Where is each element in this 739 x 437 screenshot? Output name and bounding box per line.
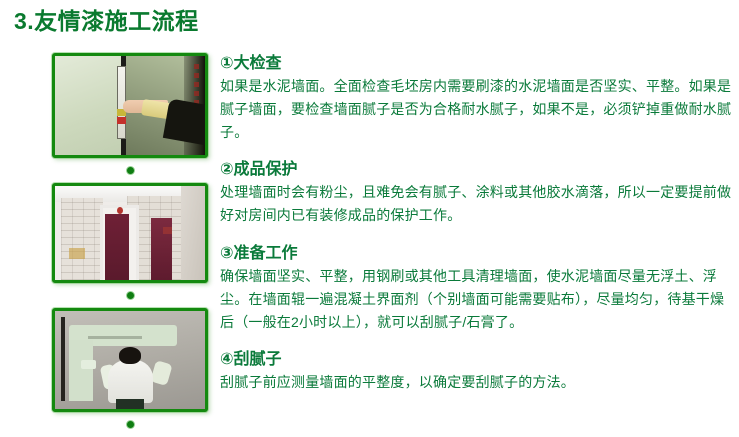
photo1-arm: [163, 98, 208, 145]
photo-column: [52, 53, 208, 437]
step-4-body: 刮腻子前应测量墙面的平整度，以确定要刮腻子的方法。: [220, 371, 732, 394]
dot-icon: [127, 292, 134, 299]
photo1-level-bubble-red: [117, 117, 126, 124]
photo-worker-applying-putty-image: [55, 311, 205, 409]
page-root: 3.友情漆施工流程: [0, 0, 739, 433]
dot-icon: [127, 167, 134, 174]
step-section-3: ③准备工作 确保墙面坚实、平整，用钢刷或其他工具清理墙面，使水泥墙面尽量无浮土、…: [220, 244, 732, 334]
steps-text-column: ①大检查 如果是水泥墙面。全面检查毛坯房内需要刷漆的水泥墙面是否坚实、平整。如果…: [220, 54, 732, 407]
photo3-coated-patch-small: [81, 360, 96, 369]
photo2-poster-spot-2: [163, 227, 172, 234]
photo-product-protection-image: [55, 186, 205, 280]
photo-wall-inspection-image: [55, 56, 205, 155]
step-1-body: 如果是水泥墙面。全面检查毛坯房内需要刷漆的水泥墙面是否坚实、平整。如果是腻子墙面…: [220, 75, 732, 144]
photo2-side-wall: [181, 186, 205, 280]
page-title: 3.友情漆施工流程: [14, 8, 199, 36]
photo3-coated-patch-left: [69, 340, 93, 401]
step-2-body: 处理墙面时会有粉尘，且难免会有腻子、涂料或其他胶水滴落，所以一定要提前做好对房间…: [220, 181, 732, 227]
photo2-poster-spot: [69, 248, 86, 259]
step-section-4: ④刮腻子 刮腻子前应测量墙面的平整度，以确定要刮腻子的方法。: [220, 350, 732, 394]
step-section-2: ②成品保护 处理墙面时会有粉尘，且难免会有腻子、涂料或其他胶水滴落，所以一定要提…: [220, 160, 732, 227]
photo-frame-3: [52, 308, 208, 412]
photo3-wall-line: [88, 336, 142, 339]
step-section-1: ①大检查 如果是水泥墙面。全面检查毛坯房内需要刷漆的水泥墙面是否坚实、平整。如果…: [220, 54, 732, 144]
connector-dot-2: [52, 283, 208, 308]
connector-dot-1: [52, 158, 208, 183]
photo3-worker-body: [108, 360, 153, 403]
photo3-worker-head: [119, 347, 142, 364]
connector-dot-3: [52, 412, 208, 437]
dot-icon: [127, 421, 134, 428]
step-3-heading: ③准备工作: [220, 244, 732, 264]
photo1-wall-left: [55, 56, 121, 155]
photo2-wall-left-newspaper: [61, 198, 103, 280]
photo2-red-marking: [117, 207, 123, 214]
photo3-worker-pants: [116, 399, 145, 409]
photo3-wall-edge: [61, 317, 65, 401]
step-4-heading: ④刮腻子: [220, 350, 732, 370]
photo2-door: [105, 214, 128, 280]
photo-frame-1: [52, 53, 208, 158]
step-2-heading: ②成品保护: [220, 160, 732, 180]
photo-frame-2: [52, 183, 208, 283]
step-3-body: 确保墙面坚实、平整，用钢刷或其他工具清理墙面，使水泥墙面尽量无浮土、浮尘。在墙面…: [220, 265, 732, 334]
step-1-heading: ①大检查: [220, 54, 732, 74]
